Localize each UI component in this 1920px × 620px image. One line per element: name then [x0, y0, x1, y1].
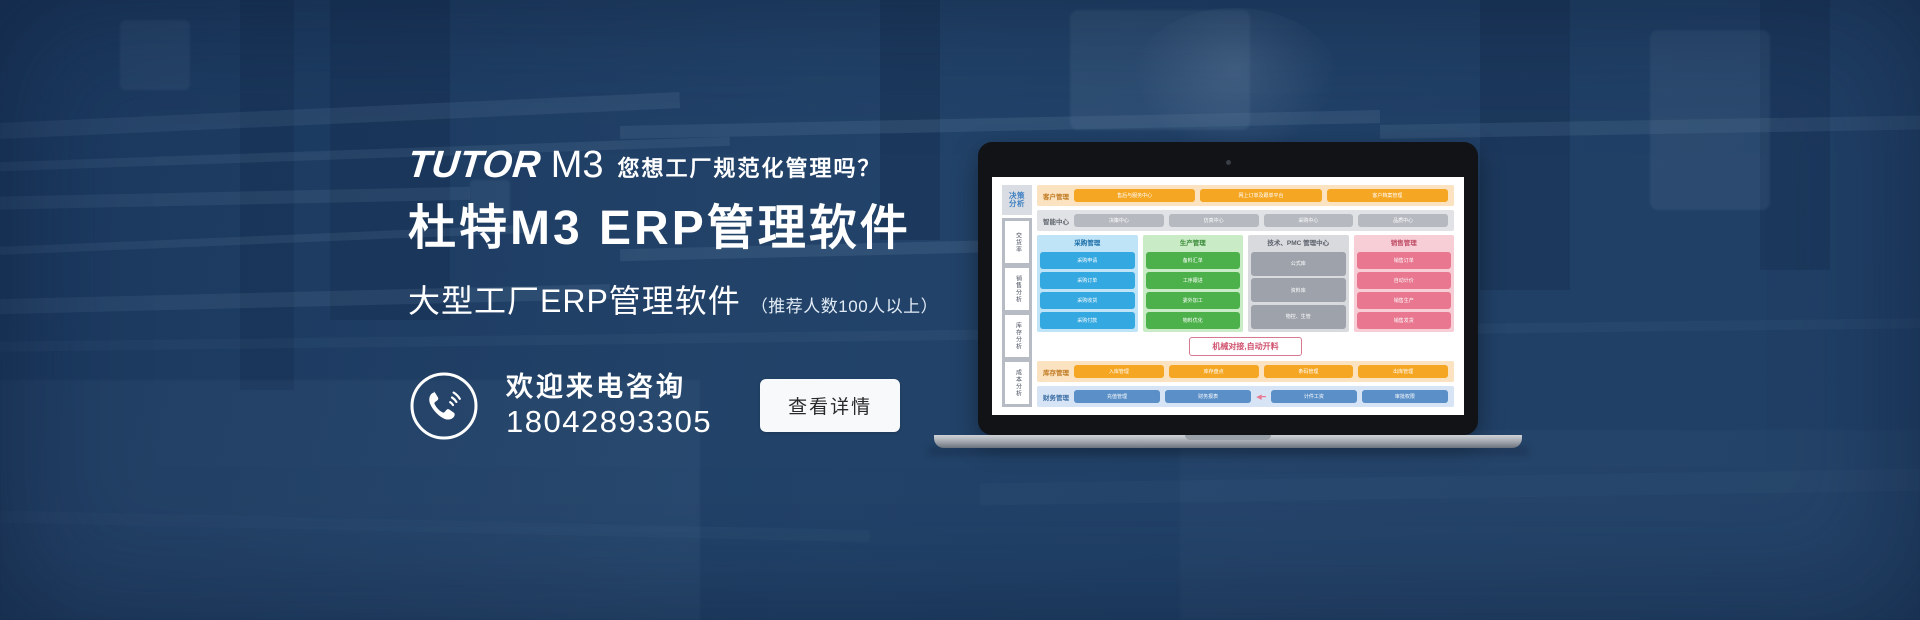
- decision-item[interactable]: 交货率: [1005, 221, 1029, 263]
- arrow-left-icon: ◀━: [1256, 393, 1266, 401]
- decision-analysis-column: 决策 分析 交货率 销售分析 库存分析 成本分析: [1002, 185, 1032, 407]
- module-chip[interactable]: 品质中心: [1358, 214, 1448, 227]
- module-chip[interactable]: 采购付款: [1040, 312, 1135, 329]
- card-title: 销售管理: [1357, 238, 1452, 249]
- subtitle-text: 大型工厂ERP管理软件: [408, 276, 741, 322]
- sales-management-card: 销售管理 销售订单 自动计价 销售生产 销售发货: [1354, 235, 1455, 332]
- module-chip[interactable]: 备料汇单: [1146, 252, 1241, 269]
- page-title: 杜特M3 ERP管理软件: [408, 202, 968, 256]
- decision-title-line2: 分析: [1009, 200, 1025, 208]
- module-chip[interactable]: 采购收货: [1040, 292, 1135, 309]
- laptop-screen: 决策 分析 交货率 销售分析 库存分析 成本分析 客户: [992, 177, 1464, 415]
- technology-pmc-card: 技术、PMC 管理中心 公式库 资料库 物控、生管: [1248, 235, 1349, 332]
- module-chip[interactable]: 采购申请: [1040, 252, 1135, 269]
- module-chip[interactable]: 采购订单: [1040, 272, 1135, 289]
- module-chip[interactable]: 审批权限: [1362, 390, 1448, 403]
- tutor-wordmark: TUTOR: [406, 146, 543, 184]
- decision-analysis-header: 决策 分析: [1002, 185, 1032, 215]
- hero-copy-block: TUTOR M3 您想工厂规范化管理吗？ 杜特M3 ERP管理软件 大型工厂ER…: [408, 140, 968, 442]
- module-chip[interactable]: 工序跟进: [1146, 272, 1241, 289]
- decision-item[interactable]: 库存分析: [1005, 315, 1029, 357]
- purchase-management-card: 采购管理 采购申请 采购订单 采购收货 采购付款: [1037, 235, 1138, 332]
- module-chip[interactable]: 网上订单及跟单平台: [1200, 189, 1321, 202]
- band-title: 库存管理: [1043, 367, 1069, 377]
- hero-banner: TUTOR M3 您想工厂规范化管理吗？ 杜特M3 ERP管理软件 大型工厂ER…: [0, 0, 1920, 620]
- laptop-mockup: 决策 分析 交货率 销售分析 库存分析 成本分析 客户: [978, 142, 1478, 454]
- card-title: 采购管理: [1040, 238, 1135, 249]
- module-chip[interactable]: 销售订单: [1357, 252, 1452, 269]
- module-chip[interactable]: 物控、生管: [1251, 305, 1346, 329]
- core-modules-row: 采购管理 采购申请 采购订单 采购收货 采购付款 生产管理 备料汇单 工序跟进 …: [1037, 235, 1454, 332]
- cta-row: 欢迎来电咨询 18042893305 查看详情: [408, 370, 968, 442]
- band-title: 智能中心: [1043, 216, 1069, 226]
- band-title: 财务管理: [1043, 392, 1069, 402]
- module-chip[interactable]: 计件工资: [1271, 390, 1357, 403]
- decision-item[interactable]: 销售分析: [1005, 268, 1029, 310]
- decision-analysis-items: 交货率 销售分析 库存分析 成本分析: [1002, 218, 1032, 407]
- welcome-call-label: 欢迎来电咨询: [506, 373, 712, 401]
- customer-management-band: 客户管理 售后与服务中心 网上订单及跟单平台 客户档案管理: [1037, 185, 1454, 206]
- erp-architecture-diagram: 决策 分析 交货率 销售分析 库存分析 成本分析 客户: [1002, 185, 1454, 407]
- module-chip[interactable]: 自动计价: [1357, 272, 1452, 289]
- machine-highlight-row: 机械对接,自动开料: [1037, 336, 1454, 357]
- module-chip[interactable]: 采购中心: [1264, 214, 1354, 227]
- module-chip[interactable]: 销售生产: [1357, 292, 1452, 309]
- production-management-card: 生产管理 备料汇单 工序跟进 委外加工 物料优化: [1143, 235, 1244, 332]
- module-chip[interactable]: 物料优化: [1146, 312, 1241, 329]
- module-chip[interactable]: 委外加工: [1146, 292, 1241, 309]
- eyebrow-tagline: 您想工厂规范化管理吗？: [617, 157, 881, 184]
- module-chip[interactable]: 仿真中心: [1169, 214, 1259, 227]
- module-chip[interactable]: 公式库: [1251, 252, 1346, 276]
- phone-contact-block: 欢迎来电咨询 18042893305: [506, 373, 712, 438]
- band-title: 客户管理: [1043, 191, 1069, 201]
- subtitle-row: 大型工厂ERP管理软件 （推荐人数100人以上）: [408, 276, 968, 322]
- module-chip[interactable]: 售后与服务中心: [1074, 189, 1195, 202]
- view-details-button[interactable]: 查看详情: [760, 379, 900, 432]
- module-chip[interactable]: 决策中心: [1074, 214, 1164, 227]
- brand-eyebrow-row: TUTOR M3 您想工厂规范化管理吗？: [408, 140, 968, 184]
- module-chip[interactable]: 销售发货: [1357, 312, 1452, 329]
- subtitle-note: （推荐人数100人以上）: [751, 292, 938, 317]
- module-chip[interactable]: 入库管理: [1074, 365, 1164, 378]
- laptop-shadow: [928, 448, 1528, 454]
- stock-management-band: 库存管理 入库管理 库存盘点 条码管理 出库管理: [1037, 361, 1454, 382]
- phone-number[interactable]: 18042893305: [506, 406, 712, 439]
- smart-center-band: 智能中心 决策中心 仿真中心 采购中心 品质中心: [1037, 210, 1454, 231]
- m3-wordmark: M3: [551, 146, 604, 184]
- module-chip[interactable]: 充值管理: [1074, 390, 1160, 403]
- finance-management-band: 财务管理 充值管理 财务报表 ◀━ 计件工资 审批权限: [1037, 386, 1454, 407]
- module-chip[interactable]: 条码管理: [1264, 365, 1354, 378]
- laptop-lid: 决策 分析 交货率 销售分析 库存分析 成本分析 客户: [978, 142, 1478, 435]
- diagram-rows: 客户管理 售后与服务中心 网上订单及跟单平台 客户档案管理 智能中心 决策中心 …: [1037, 185, 1454, 407]
- card-title: 技术、PMC 管理中心: [1251, 238, 1346, 249]
- webcam-icon: [1226, 160, 1231, 165]
- machine-docking-callout: 机械对接,自动开料: [1189, 337, 1301, 356]
- module-chip[interactable]: 出库管理: [1358, 365, 1448, 378]
- laptop-base: [934, 435, 1522, 448]
- module-chip[interactable]: 资料库: [1251, 278, 1346, 302]
- phone-call-icon: [408, 370, 480, 442]
- module-chip[interactable]: 客户档案管理: [1327, 189, 1448, 202]
- decision-item[interactable]: 成本分析: [1005, 362, 1029, 404]
- card-title: 生产管理: [1146, 238, 1241, 249]
- module-chip[interactable]: 财务报表: [1165, 390, 1251, 403]
- module-chip[interactable]: 库存盘点: [1169, 365, 1259, 378]
